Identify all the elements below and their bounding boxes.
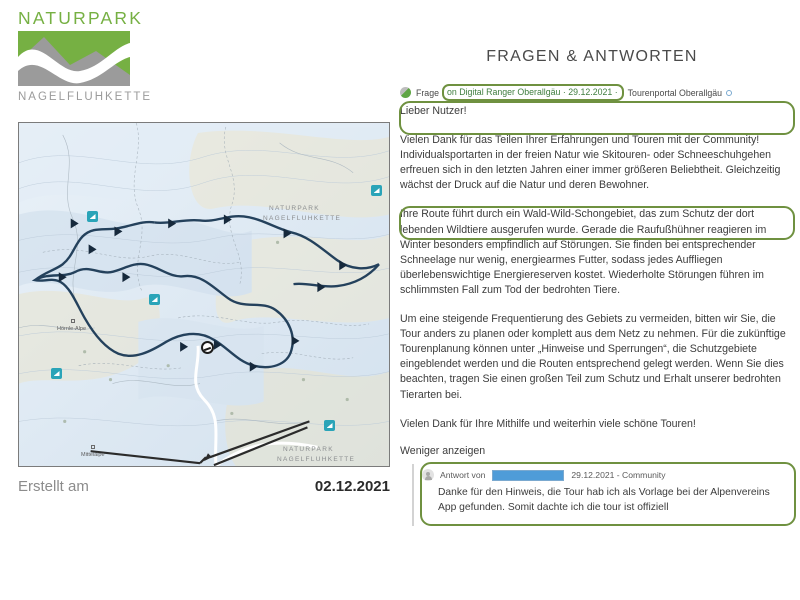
logo-bottom-text: NAGELFLUHKETTE bbox=[18, 91, 148, 103]
created-row: Erstellt am 02.12.2021 bbox=[18, 478, 390, 495]
map-poi-marker[interactable] bbox=[149, 294, 160, 305]
reply-meta: Antwort von 29.12.2021 - Community bbox=[422, 469, 666, 481]
redacted-username bbox=[492, 470, 564, 481]
map-start-marker[interactable] bbox=[201, 341, 214, 354]
map-place-label: Mittelalpe bbox=[81, 452, 105, 458]
qa-panel: FRAGEN & ANTWORTEN Frage on Digital Rang… bbox=[396, 0, 800, 600]
map-poi-marker[interactable] bbox=[324, 420, 335, 431]
paragraph-request: Um eine steigende Frequentierung des Geb… bbox=[400, 312, 798, 403]
page-title: FRAGEN & ANTWORTEN bbox=[396, 48, 788, 66]
map-park-label: NATURPARK bbox=[283, 446, 334, 453]
map-hut-icon bbox=[91, 445, 95, 449]
paragraph-schongebiet: Ihre Route führt durch ein Wald-Wild-Sch… bbox=[400, 207, 798, 298]
logo-top-text: NATURPARK bbox=[18, 8, 148, 28]
reply-prefix: Antwort von bbox=[440, 470, 485, 480]
question-body: Lieber Nutzer! Vielen Dank für das Teile… bbox=[400, 104, 798, 457]
tour-map[interactable]: NATURPARK NAGELFLUHKETTE NATURPARK NAGEL… bbox=[18, 122, 390, 467]
collapse-link[interactable]: Weniger anzeigen bbox=[400, 445, 798, 457]
left-column: NATURPARK NAGELFLUHKETTE bbox=[0, 0, 392, 600]
question-source[interactable]: Tourenportal Oberallgäu bbox=[628, 88, 722, 98]
avatar-icon bbox=[400, 87, 411, 98]
map-park-label: NAGELFLUHKETTE bbox=[263, 215, 341, 222]
question-meta: Frage on Digital Ranger Oberallgäu · 29.… bbox=[400, 84, 800, 101]
info-circle-icon[interactable] bbox=[726, 90, 732, 96]
logo-mountain-mark bbox=[18, 31, 130, 86]
reply-date: 29.12.2021 - Community bbox=[571, 470, 665, 480]
map-canvas-svg bbox=[19, 123, 389, 466]
paragraph-greeting: Lieber Nutzer! bbox=[400, 104, 798, 119]
reply-indent-line bbox=[412, 464, 414, 526]
reply-block: Antwort von 29.12.2021 - Community Danke… bbox=[412, 462, 800, 530]
highlighted-author-date: on Digital Ranger Oberallgäu · 29.12.202… bbox=[442, 84, 624, 101]
question-label: Frage bbox=[416, 88, 439, 98]
paragraph-closing: Vielen Dank für Ihre Mithilfe und weiter… bbox=[400, 417, 798, 432]
map-poi-marker[interactable] bbox=[51, 368, 62, 379]
map-place-label: Hörnle-Alpe bbox=[57, 326, 86, 332]
paragraph-thanks: Vielen Dank für das Teilen Ihrer Erfahru… bbox=[400, 133, 798, 193]
created-date: 02.12.2021 bbox=[315, 478, 390, 495]
map-park-label: NAGELFLUHKETTE bbox=[277, 456, 355, 463]
created-label: Erstellt am bbox=[18, 478, 89, 495]
map-poi-marker[interactable] bbox=[371, 185, 382, 196]
reply-text: Danke für den Hinweis, die Tour hab ich … bbox=[438, 486, 776, 515]
map-park-label: NATURPARK bbox=[269, 205, 320, 212]
person-avatar-icon bbox=[422, 469, 434, 481]
naturpark-logo: NATURPARK NAGELFLUHKETTE bbox=[18, 8, 148, 108]
map-poi-marker[interactable] bbox=[87, 211, 98, 222]
map-hut-icon bbox=[71, 319, 75, 323]
logo-peak-svg bbox=[18, 31, 130, 86]
